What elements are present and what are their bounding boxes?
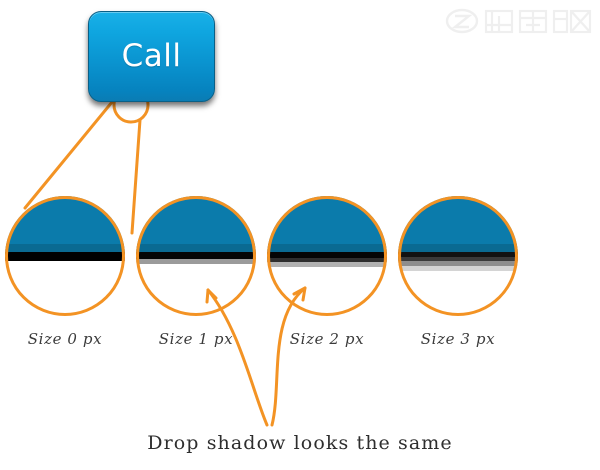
size-label-1: Size 1 px: [121, 330, 271, 348]
shadow-band-5: [267, 267, 387, 316]
shadow-band-0: [398, 196, 518, 244]
shadow-band-stack: [136, 196, 256, 316]
magnifier-circle-size-1: [136, 196, 256, 316]
call-button[interactable]: Call: [88, 11, 215, 102]
magnifier-circle-size-0: [5, 196, 125, 316]
shadow-band-3: [5, 261, 125, 316]
size-label-2: Size 2 px: [252, 330, 402, 348]
watermark-logo: [442, 6, 592, 36]
shadow-band-1: [136, 244, 256, 252]
shadow-band-2: [5, 252, 125, 261]
shadow-band-0: [5, 196, 125, 244]
shadow-band-stack: [5, 196, 125, 316]
shadow-band-stack: [267, 196, 387, 316]
diagram-canvas: Call Size 0 px Size 1 px Size 2 px Size …: [0, 0, 600, 470]
caption-text: Drop shadow looks the same: [0, 432, 600, 454]
shadow-band-0: [267, 196, 387, 244]
leader-line-left: [25, 96, 117, 208]
shadow-band-6: [398, 271, 518, 316]
call-button-label: Call: [122, 41, 182, 72]
shadow-band-2: [136, 252, 256, 259]
shadow-band-stack: [398, 196, 518, 316]
magnifier-circle-size-2: [267, 196, 387, 316]
shadow-band-0: [136, 196, 256, 244]
shadow-band-1: [5, 244, 125, 252]
shadow-band-1: [398, 244, 518, 252]
size-label-3: Size 3 px: [383, 330, 533, 348]
magnifier-circle-size-3: [398, 196, 518, 316]
shadow-band-1: [267, 244, 387, 252]
size-label-0: Size 0 px: [0, 330, 140, 348]
shadow-band-4: [136, 264, 256, 316]
